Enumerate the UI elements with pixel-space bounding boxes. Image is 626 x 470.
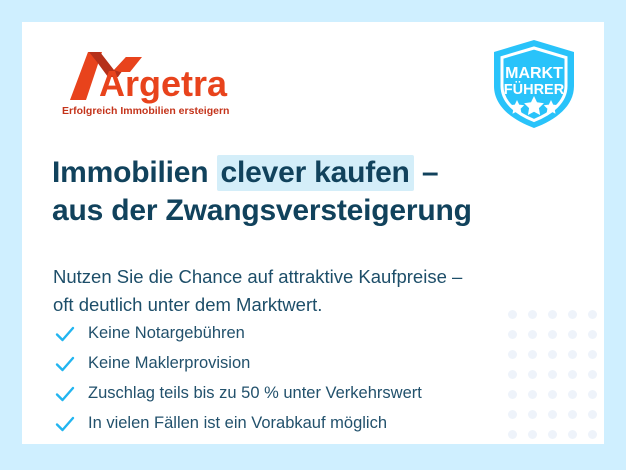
dot xyxy=(528,390,537,399)
dot xyxy=(588,370,597,379)
dot xyxy=(508,410,517,419)
list-item-label: In vielen Fällen ist ein Vorabkauf mögli… xyxy=(88,414,387,434)
list-item-label: Zuschlag teils bis zu 50 % unter Verkehr… xyxy=(88,384,422,404)
dot xyxy=(568,370,577,379)
check-icon xyxy=(54,323,76,345)
dot xyxy=(508,390,517,399)
dot xyxy=(528,330,537,339)
badge-line-1: MARKT xyxy=(505,65,563,82)
dot xyxy=(588,390,597,399)
list-item: Keine Notargebühren xyxy=(54,319,494,349)
banner-card: Argetra Erfolgreich Immobilien ersteiger… xyxy=(22,22,604,444)
dot xyxy=(568,310,577,319)
list-item-label: Keine Maklerprovision xyxy=(88,354,250,374)
dot xyxy=(548,370,557,379)
dot xyxy=(528,350,537,359)
check-icon xyxy=(54,413,76,435)
headline-line-1: Immobilien clever kaufen – xyxy=(52,154,552,192)
list-item: Keine Maklerprovision xyxy=(54,349,494,379)
logo-wordmark: Argetra xyxy=(99,63,228,104)
subheadline: Nutzen Sie die Chance auf attraktive Kau… xyxy=(53,263,563,321)
dot xyxy=(588,330,597,339)
check-icon xyxy=(54,353,76,375)
promo-banner: Argetra Erfolgreich Immobilien ersteiger… xyxy=(0,0,626,470)
dot xyxy=(508,430,517,439)
dot xyxy=(548,330,557,339)
dot xyxy=(588,350,597,359)
dot xyxy=(568,350,577,359)
headline-line-2: aus der Zwangsversteigerung xyxy=(52,192,552,230)
dot xyxy=(548,430,557,439)
benefits-list: Keine Notargebühren Keine Maklerprovisio… xyxy=(54,319,494,439)
subheadline-line-2: oft deutlich unter dem Marktwert. xyxy=(53,291,563,320)
dot xyxy=(588,310,597,319)
dot xyxy=(548,410,557,419)
markt-fuehrer-badge: MARKT FÜHRER xyxy=(486,36,582,132)
dot xyxy=(568,430,577,439)
dot xyxy=(548,390,557,399)
page-title: Immobilien clever kaufen – aus der Zwang… xyxy=(52,154,552,231)
list-item: In vielen Fällen ist ein Vorabkauf mögli… xyxy=(54,409,494,439)
dot xyxy=(568,410,577,419)
badge-line-2: FÜHRER xyxy=(504,81,565,98)
dot xyxy=(568,390,577,399)
dot xyxy=(508,330,517,339)
dot xyxy=(508,350,517,359)
dot xyxy=(528,410,537,419)
list-item: Zuschlag teils bis zu 50 % unter Verkehr… xyxy=(54,379,494,409)
headline-suffix: – xyxy=(414,156,439,189)
logo-tagline: Erfolgreich Immobilien ersteigern xyxy=(62,105,229,117)
list-item-label: Keine Notargebühren xyxy=(88,324,245,344)
check-icon xyxy=(54,383,76,405)
dot xyxy=(528,430,537,439)
dot xyxy=(588,410,597,419)
dot xyxy=(508,370,517,379)
dot xyxy=(568,330,577,339)
dot xyxy=(588,430,597,439)
dot xyxy=(548,350,557,359)
headline-highlight: clever kaufen xyxy=(217,155,414,191)
argetra-logo: Argetra Erfolgreich Immobilien ersteiger… xyxy=(56,44,276,122)
headline-prefix: Immobilien xyxy=(52,156,217,189)
dot xyxy=(528,370,537,379)
subheadline-line-1: Nutzen Sie die Chance auf attraktive Kau… xyxy=(53,263,563,292)
